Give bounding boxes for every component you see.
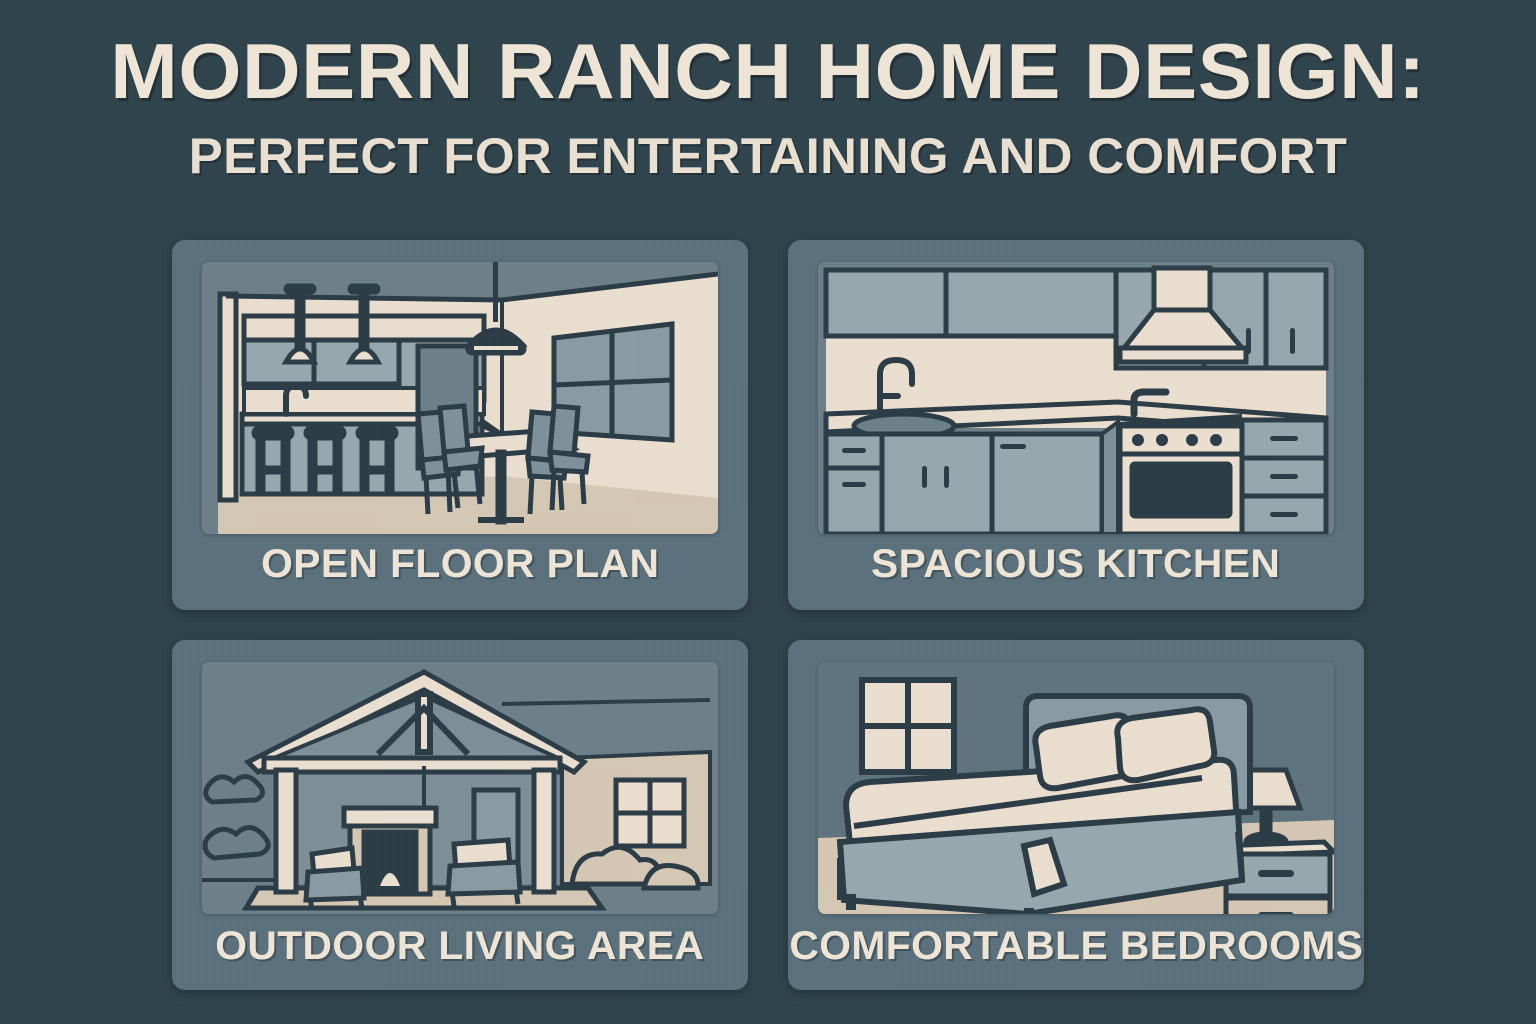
- feature-card-comfortable-bedrooms[interactable]: COMFORTABLE BEDROOMS: [788, 640, 1364, 990]
- feature-card-outdoor-living-area[interactable]: OUTDOOR LIVING AREA: [172, 640, 748, 990]
- outdoor-living-area-illustration: [202, 662, 718, 914]
- infographic-header: MODERN RANCH HOME DESIGN: PERFECT FOR EN…: [0, 34, 1536, 181]
- feature-card-spacious-kitchen[interactable]: SPACIOUS KITCHEN: [788, 240, 1364, 610]
- spacious-kitchen-illustration: [818, 262, 1334, 534]
- page-subtitle: PERFECT FOR ENTERTAINING AND COMFORT: [0, 131, 1536, 181]
- page-title: MODERN RANCH HOME DESIGN:: [0, 34, 1536, 109]
- feature-card-open-floor-plan[interactable]: OPEN FLOOR PLAN: [172, 240, 748, 610]
- card-label-outdoor-living-area: OUTDOOR LIVING AREA: [215, 926, 704, 972]
- card-label-spacious-kitchen: SPACIOUS KITCHEN: [871, 544, 1280, 590]
- feature-card-grid: OPEN FLOOR PLAN: [172, 240, 1364, 990]
- comfortable-bedrooms-illustration: [818, 662, 1334, 914]
- open-floor-plan-illustration: [202, 262, 718, 534]
- card-label-comfortable-bedrooms: COMFORTABLE BEDROOMS: [789, 926, 1363, 972]
- card-label-open-floor-plan: OPEN FLOOR PLAN: [261, 544, 659, 590]
